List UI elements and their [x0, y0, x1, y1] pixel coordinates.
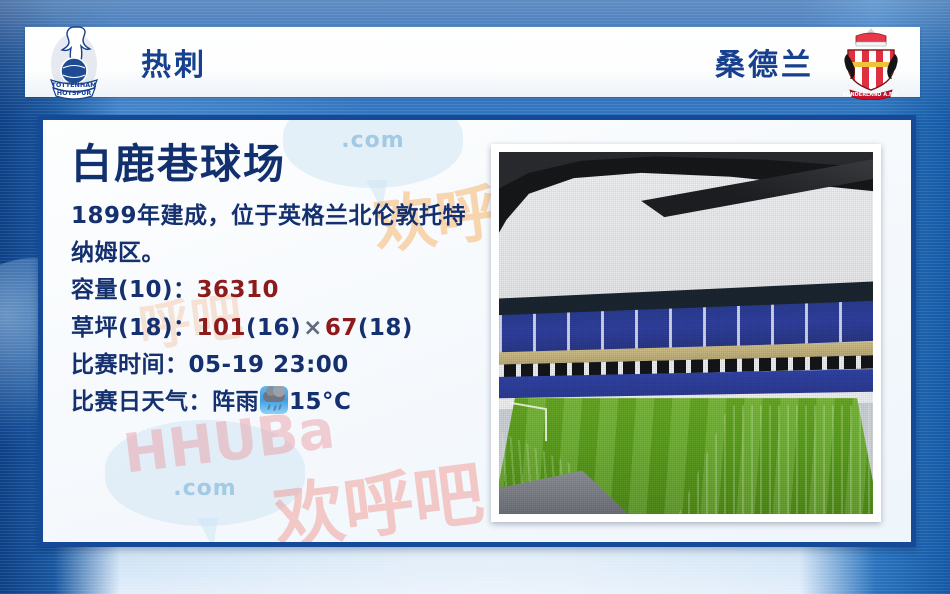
away-team-name: 桑德兰	[715, 40, 814, 84]
shower-rain-icon	[260, 386, 288, 414]
capacity-value: 36310	[197, 277, 280, 303]
pitch-label: 草坪(18)：	[71, 315, 197, 341]
tottenham-hotspur-crest: TOTTENHAM HOTSPUR	[45, 24, 103, 100]
kickoff-row: 比赛时间：05-19 23:00	[71, 347, 501, 384]
pitch-row: 草坪(18)：101(16)×67(18)	[71, 310, 501, 347]
capacity-label: 容量(10)：	[71, 277, 197, 303]
weather-condition: 阵雨	[212, 389, 259, 415]
svg-text:HOTSPUR: HOTSPUR	[57, 89, 92, 97]
away-team-block[interactable]: 桑德兰 SUNDERLAND A.F.C.	[715, 27, 920, 97]
stadium-description: 1899年建成，位于英格兰北伦敦托特纳姆区。	[71, 198, 486, 273]
svg-text:SUNDERLAND A.F.C.: SUNDERLAND A.F.C.	[843, 92, 900, 98]
stadium-info-column: 白鹿巷球场 1899年建成，位于英格兰北伦敦托特纳姆区。 容量(10)：3631…	[71, 142, 501, 421]
pitch-separator: ×	[301, 315, 325, 341]
pitch-width-rank: (18)	[358, 315, 413, 341]
stadium-info-panel: .com .com HHUBa 欢呼吧 欢呼吧 呼吧 白鹿巷球场 1899年建成…	[38, 115, 916, 547]
kickoff-value: 05-19 23:00	[189, 352, 349, 378]
capacity-row: 容量(10)：36310	[71, 272, 501, 309]
watermark-bubble-bottom-text: .com	[173, 476, 236, 501]
weather-label: 比赛日天气：	[71, 389, 212, 415]
pitch-width: 67	[325, 315, 358, 341]
sunderland-afc-crest: SUNDERLAND A.F.C.	[842, 24, 900, 100]
home-team-name: 热刺	[141, 40, 207, 84]
photo-grain	[499, 152, 873, 514]
white-hart-lane-stadium-photo	[499, 152, 873, 514]
pitch-length-rank: (16)	[246, 315, 301, 341]
pitch-length: 101	[197, 315, 247, 341]
home-team-block[interactable]: TOTTENHAM HOTSPUR 热刺	[25, 27, 207, 97]
svg-text:TOTTENHAM: TOTTENHAM	[51, 81, 96, 89]
watermark-brand-cn-2: 欢呼吧	[268, 438, 489, 547]
weather-temperature: 15°C	[289, 389, 351, 415]
kickoff-label: 比赛时间：	[71, 352, 189, 378]
stadium-title: 白鹿巷球场	[71, 142, 501, 188]
match-header-bar: TOTTENHAM HOTSPUR 热刺 桑德兰	[25, 27, 920, 97]
stadium-photo-frame[interactable]	[491, 144, 881, 522]
watermark-bubble-bottom: .com	[105, 420, 305, 526]
weather-row: 比赛日天气：阵雨15°C	[71, 384, 501, 421]
